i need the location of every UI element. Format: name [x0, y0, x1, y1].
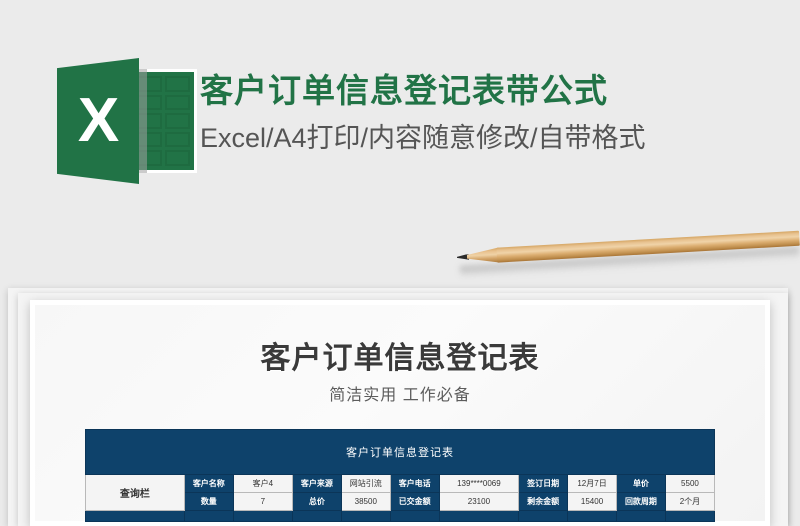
table-row: 查询栏 客户名称 客户4 客户来源 网站引流 客户电话 139****0069 … — [86, 475, 715, 493]
document-preview-stack: 客户订单信息登记表 简洁实用 工作必备 客户订单信息登记表 — [0, 282, 800, 526]
cutoff-cell — [341, 511, 390, 522]
excel-logo-icon: X — [57, 58, 197, 184]
sheet-banner-title: 客户订单信息登记表 — [86, 430, 715, 475]
field-value-sign-date[interactable]: 12月7日 — [568, 475, 617, 493]
field-value-paid-amount[interactable]: 23100 — [439, 493, 518, 511]
document-title: 客户订单信息登记表 — [35, 333, 765, 377]
field-value-total-price[interactable]: 38500 — [341, 493, 390, 511]
excel-logo-panel: X — [57, 58, 139, 184]
field-value-customer-name[interactable]: 客户4 — [233, 475, 292, 493]
cutoff-cell — [519, 511, 568, 522]
field-label-remaining-amount[interactable]: 剩余金额 — [519, 493, 568, 511]
cutoff-cell — [568, 511, 617, 522]
page-root: { "banner": { "logo_icon": "excel-logo-i… — [0, 0, 800, 526]
excel-logo-letter: X — [57, 58, 139, 184]
cutoff-cell — [665, 511, 714, 522]
field-label-paid-amount[interactable]: 已交金额 — [390, 493, 439, 511]
banner-subtitle: Excel/A4打印/内容随意修改/自带格式 — [200, 121, 780, 156]
spreadsheet-preview: 客户订单信息登记表 查询栏 客户名称 客户4 客户来源 网站引流 客户电话 13… — [85, 429, 715, 522]
field-value-unit-price[interactable]: 5500 — [665, 475, 714, 493]
order-register-table: 客户订单信息登记表 查询栏 客户名称 客户4 客户来源 网站引流 客户电话 13… — [85, 429, 715, 522]
cutoff-cell — [390, 511, 439, 522]
field-label-unit-price[interactable]: 单价 — [616, 475, 665, 493]
cutoff-cell — [439, 511, 518, 522]
banner-title: 客户订单信息登记表带公式 — [200, 70, 780, 111]
field-label-quantity[interactable]: 数量 — [184, 493, 233, 511]
paper-sheet-front: 客户订单信息登记表 简洁实用 工作必备 客户订单信息登记表 — [30, 300, 770, 526]
query-bar-label: 查询栏 — [86, 475, 185, 511]
field-value-quantity[interactable]: 7 — [233, 493, 292, 511]
promo-banner: X 客户订单信息登记表带公式 Excel/A4打印/内容随意修改/自带格式 — [0, 0, 800, 240]
cutoff-cell — [86, 511, 185, 522]
field-label-sign-date[interactable]: 签订日期 — [519, 475, 568, 493]
field-value-remaining-amount[interactable]: 15400 — [568, 493, 617, 511]
field-label-customer-name[interactable]: 客户名称 — [184, 475, 233, 493]
document-subtitle: 简洁实用 工作必备 — [35, 381, 765, 405]
field-value-customer-phone[interactable]: 139****0069 — [439, 475, 518, 493]
cutoff-cell — [616, 511, 665, 522]
pencil-tip — [467, 248, 500, 265]
table-banner-row: 客户订单信息登记表 — [86, 430, 715, 475]
table-row-cutoff — [86, 511, 715, 522]
cutoff-cell — [292, 511, 341, 522]
field-label-total-price[interactable]: 总价 — [292, 493, 341, 511]
field-label-payback-period[interactable]: 回款周期 — [616, 493, 665, 511]
field-value-customer-source[interactable]: 网站引流 — [341, 475, 390, 493]
paper-surface: 客户订单信息登记表 简洁实用 工作必备 客户订单信息登记表 — [35, 305, 765, 521]
banner-text-block: 客户订单信息登记表带公式 Excel/A4打印/内容随意修改/自带格式 — [200, 70, 780, 156]
field-label-customer-source[interactable]: 客户来源 — [292, 475, 341, 493]
cutoff-cell — [184, 511, 233, 522]
cutoff-cell — [233, 511, 292, 522]
field-label-customer-phone[interactable]: 客户电话 — [390, 475, 439, 493]
field-value-payback-period[interactable]: 2个月 — [665, 493, 714, 511]
